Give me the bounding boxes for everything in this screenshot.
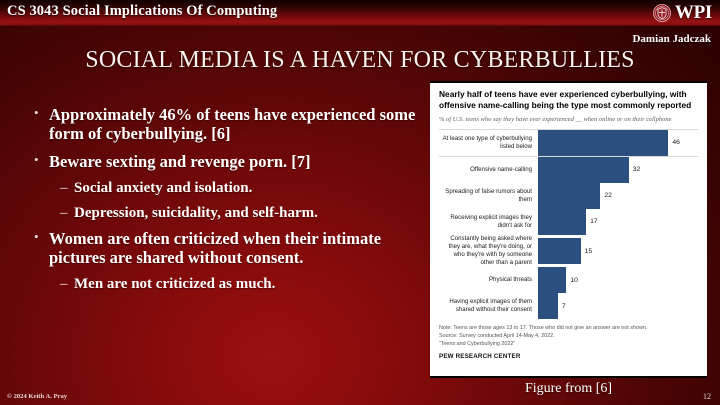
bullet-marker: • (34, 229, 49, 245)
chart-bar (538, 267, 566, 293)
chart-value-label: 46 (668, 139, 680, 146)
chart-row: Spreading of false rumors about them 22 (439, 183, 698, 209)
list-item: • Women are often criticized when their … (34, 229, 426, 267)
chart-row: Constantly being asked where they are, w… (439, 235, 698, 267)
bullet-text: Social anxiety and isolation. (74, 180, 426, 197)
page-title: SOCIAL MEDIA IS A HAVEN FOR CYBERBULLIES (0, 47, 720, 74)
bullet-marker: – (60, 205, 74, 222)
chart-bar (538, 209, 586, 235)
list-item: – Men are not criticized as much. (60, 276, 426, 293)
bullet-text: Men are not criticized as much. (74, 276, 426, 293)
chart-category-label: Having explicit images of them shared wi… (439, 298, 538, 314)
wpi-logo: WPI (653, 1, 712, 24)
chart-subtitle: % of U.S. teens who say they have ever e… (439, 116, 698, 124)
chart-bar (538, 293, 558, 319)
chart-bar (538, 157, 629, 183)
chart-note: Note: Teens are those ages 13 to 17. Tho… (439, 324, 698, 332)
chart-row: Physical threats 10 (439, 267, 698, 293)
chart-category-label: At least one type of cyberbullying liste… (439, 135, 538, 151)
bullet-text: Approximately 46% of teens have experien… (49, 105, 426, 143)
chart-bar (538, 130, 668, 156)
bullet-text: Depression, suicidality, and self-harm. (74, 205, 426, 222)
bullet-text: Women are often criticized when their in… (49, 229, 426, 267)
course-title: CS 3043 Social Implications Of Computing (7, 3, 277, 20)
figure-caption: Figure from [6] (430, 381, 707, 397)
chart-category-label: Receiving explicit images they didn't as… (439, 214, 538, 230)
page-number: 12 (703, 392, 711, 401)
chart-bar (538, 238, 581, 264)
chart-category-label: Offensive name-calling (439, 166, 538, 174)
wpi-seal-icon (653, 4, 671, 22)
list-item: – Depression, suicidality, and self-harm… (60, 205, 426, 222)
list-item: • Approximately 46% of teens have experi… (34, 105, 426, 143)
chart-source: Source: Survey conducted April 14-May 4,… (439, 332, 698, 340)
pew-research-chart: Nearly half of teens have ever experienc… (430, 81, 707, 378)
bullet-text: Beware sexting and revenge porn. [7] (49, 152, 426, 171)
copyright-notice: © 2024 Keith A. Pray (7, 393, 67, 400)
header-bar: CS 3043 Social Implications Of Computing… (0, 0, 720, 26)
chart-category-label: Physical threats (439, 276, 538, 284)
chart-row: Having explicit images of them shared wi… (439, 293, 698, 319)
chart-category-label: Constantly being asked where they are, w… (439, 235, 538, 267)
chart-row: Offensive name-calling 32 (439, 157, 698, 183)
chart-bars: At least one type of cyberbullying liste… (439, 129, 698, 319)
chart-value-label: 22 (600, 192, 612, 199)
bullet-list: • Approximately 46% of teens have experi… (34, 105, 426, 301)
chart-value-label: 7 (558, 303, 566, 310)
chart-value-label: 17 (586, 218, 598, 225)
bullet-marker: • (34, 152, 49, 168)
bullet-marker: – (60, 180, 74, 197)
chart-bar (538, 183, 600, 209)
wpi-logo-text: WPI (675, 3, 712, 22)
bullet-marker: – (60, 276, 74, 293)
bullet-marker: • (34, 105, 49, 121)
chart-row: Receiving explicit images they didn't as… (439, 209, 698, 235)
chart-notes: Note: Teens are those ages 13 to 17. Tho… (439, 324, 698, 360)
list-item: – Social anxiety and isolation. (60, 180, 426, 197)
list-item: • Beware sexting and revenge porn. [7] (34, 152, 426, 171)
chart-title: Nearly half of teens have ever experienc… (439, 89, 698, 112)
chart-category-label: Spreading of false rumors about them (439, 188, 538, 204)
author-name: Damian Jadczak (632, 33, 711, 45)
chart-value-label: 32 (629, 166, 641, 173)
chart-value-label: 15 (581, 248, 593, 255)
slide: CS 3043 Social Implications Of Computing… (0, 0, 720, 405)
chart-row: At least one type of cyberbullying liste… (439, 130, 698, 157)
chart-source-org: PEW RESEARCH CENTER (439, 353, 698, 360)
chart-study-name: “Teens and Cyberbullying 2022” (439, 340, 698, 348)
chart-value-label: 10 (566, 277, 578, 284)
